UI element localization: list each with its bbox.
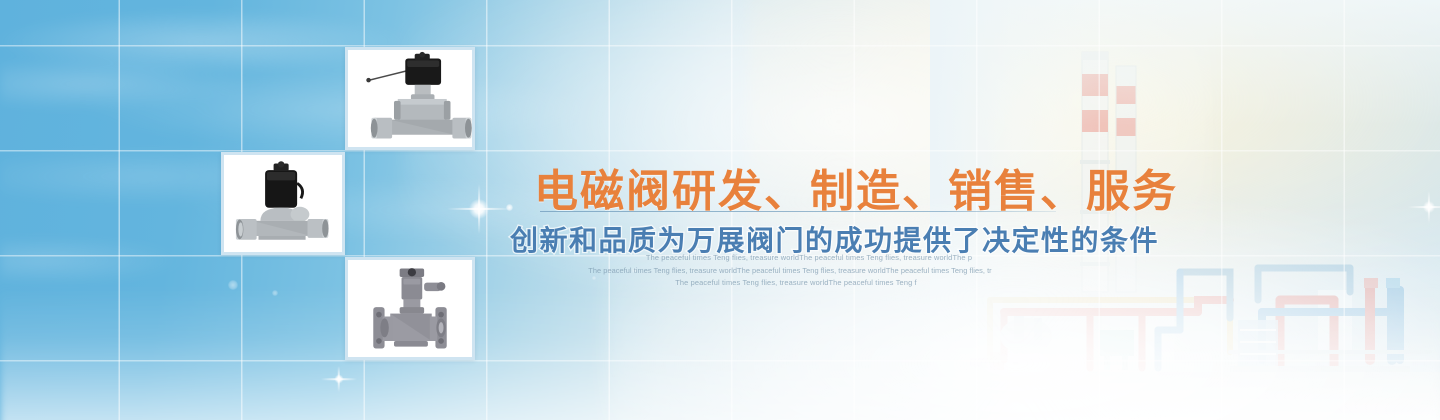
- english-caption-line-2: The peaceful times Teng flies, treasure …: [520, 265, 1060, 278]
- banner-english-caption: The peaceful times Teng flies, treasure …: [520, 252, 1060, 290]
- banner-headline: 电磁阀研发、制造、销售、服务: [534, 155, 1178, 219]
- english-caption-line-1: The peaceful times Teng flies, treasure …: [520, 252, 1060, 265]
- product-image-solenoid-valve-threaded-lever[interactable]: [345, 47, 475, 150]
- english-caption-line-3: The peaceful times Teng flies, treasure …: [520, 277, 1060, 290]
- product-image-solenoid-valve-threaded-coil[interactable]: [221, 152, 345, 255]
- hero-banner: 电磁阀研发、制造、销售、服务 创新和品质为万展阀门的成功提供了决定性的条件 Th…: [0, 0, 1440, 420]
- headline-divider: [540, 211, 1056, 212]
- product-image-solenoid-valve-flanged[interactable]: [345, 257, 475, 360]
